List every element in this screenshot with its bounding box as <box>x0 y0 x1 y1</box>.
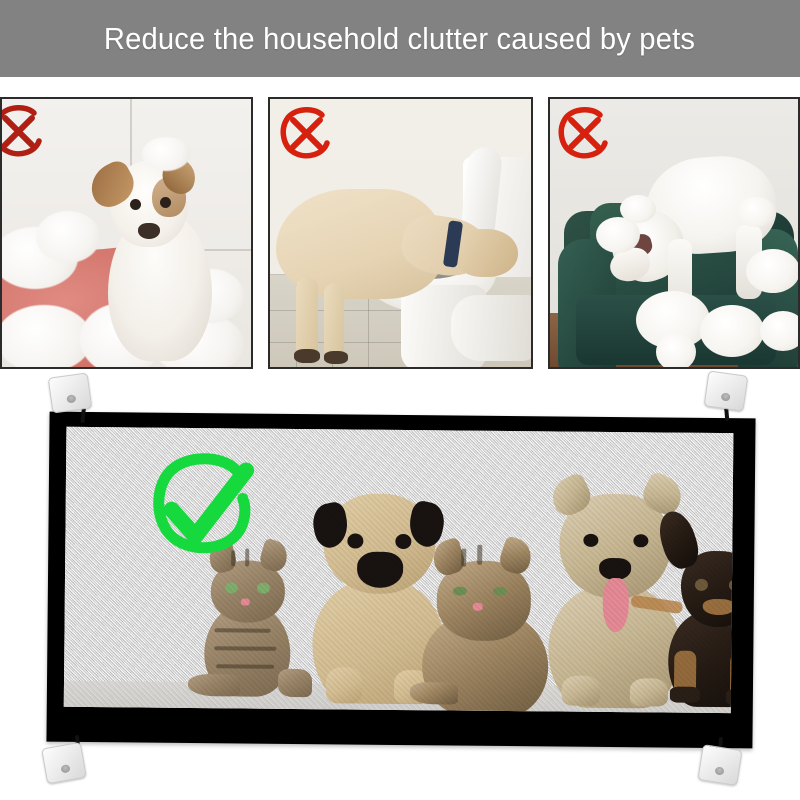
sofa-stuffing <box>760 311 798 351</box>
pet-longhair-cat-eye-left <box>453 586 467 595</box>
toilet-foot <box>451 295 531 361</box>
dog-eye-left <box>130 199 141 210</box>
problem-photo-strip <box>0 97 800 369</box>
gate-mesh-panel <box>64 427 734 713</box>
pet-tabby-kitten-eye-left <box>225 582 238 593</box>
pet-min-pin-paw-left <box>670 687 700 703</box>
sofa-stuffing <box>656 333 696 367</box>
page-title: Reduce the household clutter caused by p… <box>104 21 695 57</box>
adhesive-wall-hook-top-right <box>704 370 749 411</box>
product-section <box>0 369 800 800</box>
pet-husky-paw-right <box>630 678 668 706</box>
pet-min-pin-eye-left <box>695 579 708 591</box>
panel-image-shredded-pillow <box>2 99 251 367</box>
sofa-stuffing <box>746 249 798 293</box>
adhesive-wall-hook-bottom-left <box>41 742 87 784</box>
pet-husky-paw-left <box>562 676 600 706</box>
portable-pet-gate <box>46 412 755 749</box>
dog-eye-right <box>160 197 171 208</box>
panel-image-toilet-drinking <box>270 99 531 367</box>
pet-longhair-cat-paw <box>410 682 458 704</box>
pet-tabby-kitten-paw <box>188 674 240 696</box>
pet-tabby-kitten-nose <box>241 598 250 605</box>
pet-min-pin-paw-right <box>726 689 734 705</box>
pillow-stuffing <box>142 137 190 171</box>
pet-pug-muzzle <box>357 552 403 588</box>
dog-head <box>456 229 518 277</box>
pet-pug-eye-right <box>395 534 411 549</box>
problem-panel-torn-sofa <box>548 97 800 369</box>
green-check-icon <box>145 450 264 563</box>
header-banner: Reduce the household clutter caused by p… <box>0 0 800 77</box>
sofa-stuffing <box>620 195 656 223</box>
pet-longhair-cat-eye-right <box>493 587 507 596</box>
pet-tabby-kitten-eye-right <box>257 583 270 594</box>
adhesive-wall-hook-bottom-right <box>697 744 742 786</box>
infographic-root: Reduce the household clutter caused by p… <box>0 0 800 800</box>
sofa-stuffing <box>736 197 776 227</box>
dog-nose <box>138 223 160 239</box>
pillow-stuffing <box>36 211 100 263</box>
pet-longhair-cat-nose <box>473 603 483 611</box>
pet-pug-paw-left <box>326 667 362 703</box>
pet-tabby-kitten-tail <box>278 669 312 697</box>
adhesive-wall-hook-top-left <box>48 372 93 413</box>
problem-panel-toilet-drinking <box>268 97 533 369</box>
pet-husky-eye-right <box>633 534 648 547</box>
pet-husky-nose <box>599 558 631 580</box>
pet-min-pin-muzzle <box>703 599 734 615</box>
pet-pug-eye-left <box>347 533 363 548</box>
dog-front-leg <box>296 277 318 355</box>
sofa-stuffing <box>700 305 764 357</box>
panel-image-torn-sofa <box>550 99 798 367</box>
problem-panel-shredded-pillow <box>0 97 253 369</box>
dog-hind-leg <box>324 283 344 357</box>
dog-paw <box>324 351 348 364</box>
pet-husky-eye-left <box>583 534 598 547</box>
dog-paw <box>294 349 320 363</box>
